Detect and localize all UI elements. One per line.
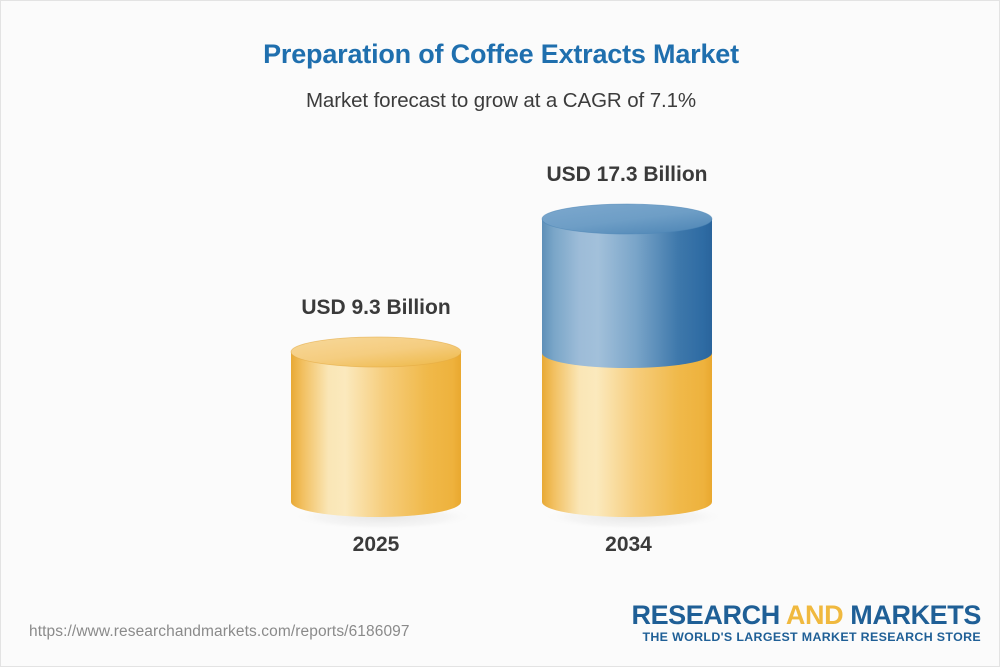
logo-word-and: AND — [786, 600, 843, 630]
research-and-markets-logo[interactable]: RESEARCH AND MARKETS THE WORLD'S LARGEST… — [631, 601, 981, 645]
bar-2034[interactable] — [534, 198, 726, 531]
logo-wordmark: RESEARCH AND MARKETS — [631, 601, 981, 629]
category-label-2034: 2034 — [536, 533, 721, 557]
cylinder-body — [291, 352, 461, 517]
cylinder-segment-growth — [542, 219, 712, 368]
bar-2025[interactable] — [283, 331, 473, 531]
logo-word-markets: MARKETS — [843, 600, 981, 630]
cylinder-segment-base — [542, 353, 712, 517]
category-label-2025: 2025 — [286, 533, 466, 557]
value-label-2025: USD 9.3 Billion — [286, 296, 466, 320]
chart-canvas: Preparation of Coffee Extracts Market Ma… — [0, 0, 1000, 667]
report-url[interactable]: https://www.researchandmarkets.com/repor… — [29, 623, 410, 641]
plot-area: USD 9.3 Billion — [1, 1, 1000, 601]
value-label-2034: USD 17.3 Billion — [531, 163, 723, 187]
logo-tagline: THE WORLD'S LARGEST MARKET RESEARCH STOR… — [631, 631, 981, 645]
logo-word-research: RESEARCH — [631, 600, 785, 630]
